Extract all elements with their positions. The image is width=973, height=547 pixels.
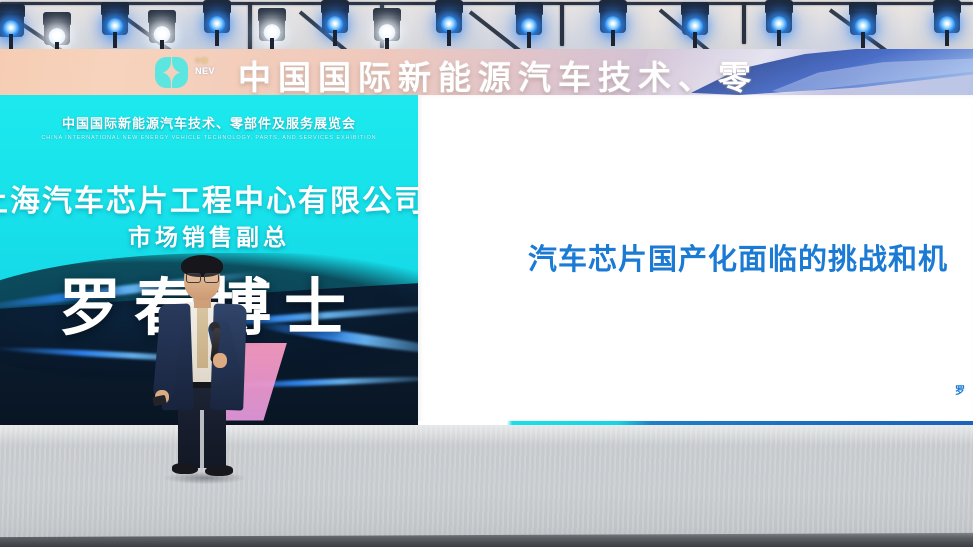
speaker-hand-right [213,353,227,368]
conference-stage-scene: 中国 NEV 中国国际新能源汽车技术、零 名企优品造电车——“拆新车、比品质、 … [0,0,973,547]
presentation-slide-panel: 汽车芯片国产化面临的挑战和机 罗 [418,95,973,425]
stage-light-fixture [846,2,880,42]
stage-light-fixture [762,0,796,40]
lamp-arm [611,30,615,46]
logo-wordmark: 中国 NEV [195,58,215,76]
lamp-arm [777,30,781,46]
stage-light-fixture [200,0,234,40]
stage-light-fixture [930,0,964,40]
speaker-shoe-left [172,463,198,474]
petal-icon [172,72,188,88]
leg-gap [200,410,204,468]
stage-light-fixture [370,8,404,48]
logo-text: NEV [195,66,215,76]
speaker-role: 市场销售副总 [0,218,418,252]
led-exhibition-header: 中国国际新能源汽车技术、零部件及服务展览会 CHINA INTERNATIONA… [0,113,418,141]
speaker-tie [197,306,208,368]
lamp-arm [527,32,531,48]
exhibition-name-en: CHINA INTERNATIONAL NEW ENERGY VEHICLE T… [0,135,418,141]
slide-credit-text: 罗 [955,382,965,397]
stage-light-fixture [40,12,74,52]
stage-light-fixture [98,2,132,42]
petal-icon [155,57,171,73]
nev-flower-logo: 中国 NEV [153,55,229,91]
stage-light-fixture [255,8,289,48]
stage-light-fixture [512,2,546,42]
stage-light-fixture [0,4,28,44]
truss-post [742,4,746,44]
logo-petals-icon [153,57,193,89]
truss-beam-horizontal [0,2,973,5]
truss-post [560,4,564,46]
speaker-shadow [164,472,246,484]
lamp-arm [333,30,337,46]
petal-icon [155,72,171,88]
lamp-arm [861,32,865,48]
venue-header-banner: 中国 NEV 中国国际新能源汽车技术、零 名企优品造电车——“拆新车、比品质、 [0,49,973,95]
lamp-arm [9,34,13,50]
petal-icon [172,57,188,73]
lamp-arm [447,30,451,46]
stage-light-fixture [596,0,630,40]
glasses-icon [186,273,219,281]
lamp-arm [945,30,949,46]
slide-title: 汽车芯片国产化面临的挑战和机 [418,236,973,278]
stage-light-fixture [145,10,179,50]
speaker-company: 上海汽车芯片工程中心有限公司 [0,176,396,220]
lamp-arm [113,32,117,48]
speaker-person [150,258,256,483]
exhibition-name-cn: 中国国际新能源汽车技术、零部件及服务展览会 [0,113,418,132]
lamp-arm [693,32,697,48]
stage-light-fixture [318,0,352,40]
floor-reflection [0,425,973,445]
truss-post [248,4,252,50]
back-wall: 中国国际新能源汽车技术、零部件及服务展览会 CHINA INTERNATIONA… [0,95,973,425]
stage-light-fixture [678,2,712,42]
stage-light-fixture [432,0,466,40]
speaker-shoe-right [205,465,233,476]
event-title: 中国国际新能源汽车技术、零 [238,51,758,95]
lamp-arm [215,30,219,46]
stage-floor [0,425,973,547]
